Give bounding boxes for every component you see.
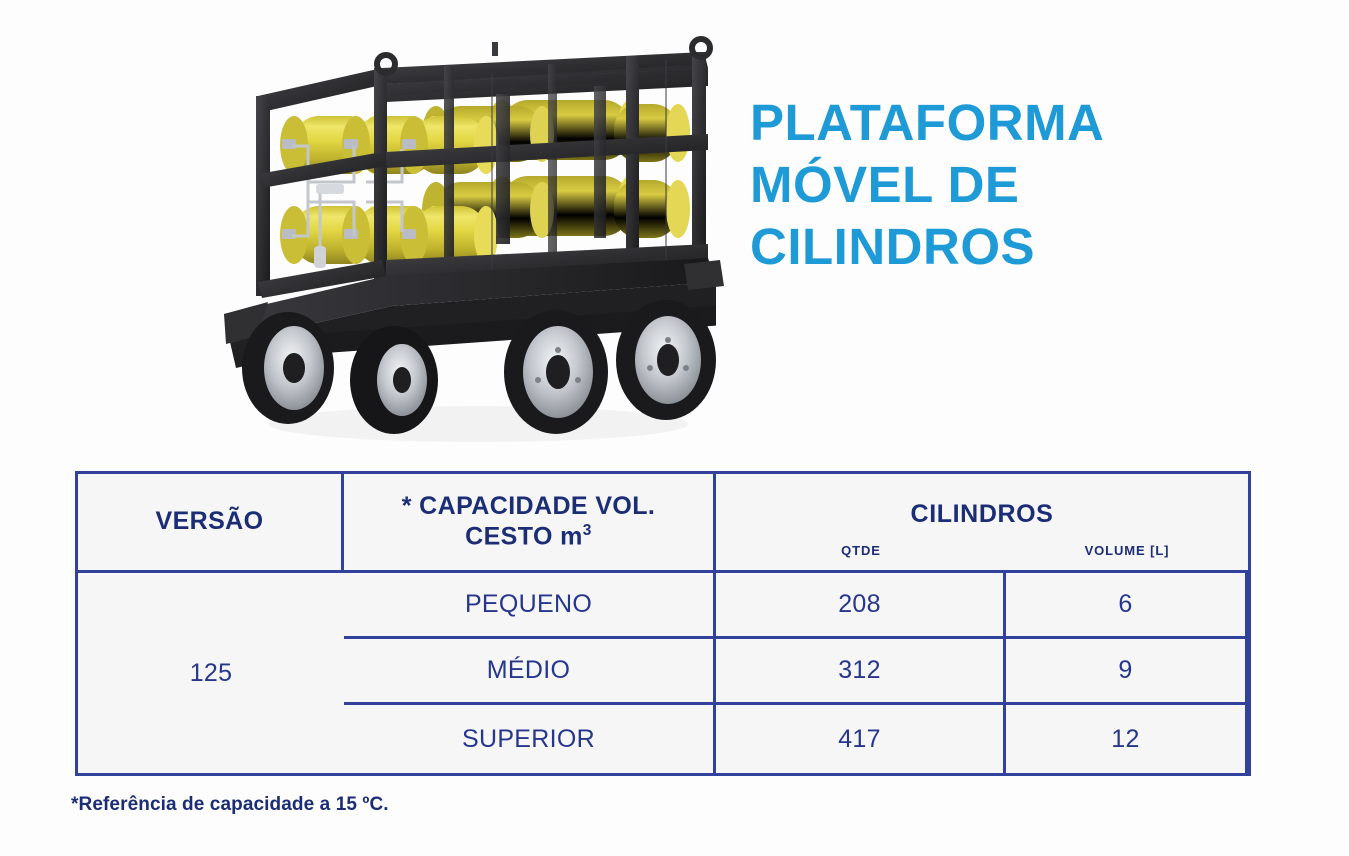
cell-qtde-1: 6 xyxy=(1118,590,1132,619)
header-label-volume: VOLUME [L] xyxy=(1006,543,1248,558)
table-row: 6 xyxy=(1006,573,1248,639)
header-capacidade-exponent: 3 xyxy=(583,522,592,539)
cell-capacidade-2: 312 xyxy=(838,656,881,685)
cell-qtde-3: 12 xyxy=(1111,725,1139,754)
cell-volume-value: 125 xyxy=(190,659,233,688)
table-row: SUPERIOR xyxy=(344,705,716,773)
header-label-capacidade: * CAPACIDADE VOL. CESTO m3 xyxy=(402,492,656,551)
product-image xyxy=(196,24,744,454)
header-label-qtde: QTDE xyxy=(716,543,1006,558)
cell-volume-merged: 125 xyxy=(78,573,344,773)
table-row: PEQUENO xyxy=(344,573,716,639)
cell-versao-2: MÉDIO xyxy=(487,656,570,685)
cylinder-group-front-lower xyxy=(280,206,498,264)
table-row: 417 xyxy=(716,705,1006,773)
table-header-versao: VERSÃO xyxy=(78,474,344,573)
table-row: 208 xyxy=(716,573,1006,639)
wheel-rear-right xyxy=(616,300,716,420)
wheel-rear-left xyxy=(504,310,608,434)
title-line-2: MÓVEL DE xyxy=(750,154,1270,216)
specification-table: VERSÃO * CAPACIDADE VOL. CESTO m3 CILIND… xyxy=(75,471,1251,776)
trailer-illustration xyxy=(196,24,744,454)
header-label-versao: VERSÃO xyxy=(156,507,264,537)
wheel-front-left xyxy=(242,312,334,424)
header-capacidade-line2: CESTO m xyxy=(465,522,583,550)
cell-capacidade-3: 417 xyxy=(838,725,881,754)
table-row: MÉDIO xyxy=(344,639,716,705)
header-label-cilindros: CILINDROS xyxy=(716,500,1248,529)
page-title: PLATAFORMA MÓVEL DE CILINDROS xyxy=(750,92,1270,279)
table-header-capacidade: * CAPACIDADE VOL. CESTO m3 xyxy=(344,474,716,573)
cell-capacidade-1: 208 xyxy=(838,590,881,619)
cell-qtde-2: 9 xyxy=(1118,656,1132,685)
vent-stack-icon xyxy=(492,42,498,56)
footnote-text: *Referência de capacidade a 15 ºC. xyxy=(71,794,389,816)
cell-versao-1: PEQUENO xyxy=(465,590,592,619)
title-line-3: CILINDROS xyxy=(750,216,1270,278)
table-row: 312 xyxy=(716,639,1006,705)
table-header-cilindros: CILINDROS QTDE VOLUME [L] xyxy=(716,474,1248,573)
cell-versao-3: SUPERIOR xyxy=(462,725,595,754)
regulator-icon xyxy=(314,246,326,268)
title-line-1: PLATAFORMA xyxy=(750,92,1270,154)
header-capacidade-line1: * CAPACIDADE VOL. xyxy=(402,492,656,520)
wheel-front-right xyxy=(350,326,438,434)
table-row: 9 xyxy=(1006,639,1248,705)
table-row: 12 xyxy=(1006,705,1248,773)
